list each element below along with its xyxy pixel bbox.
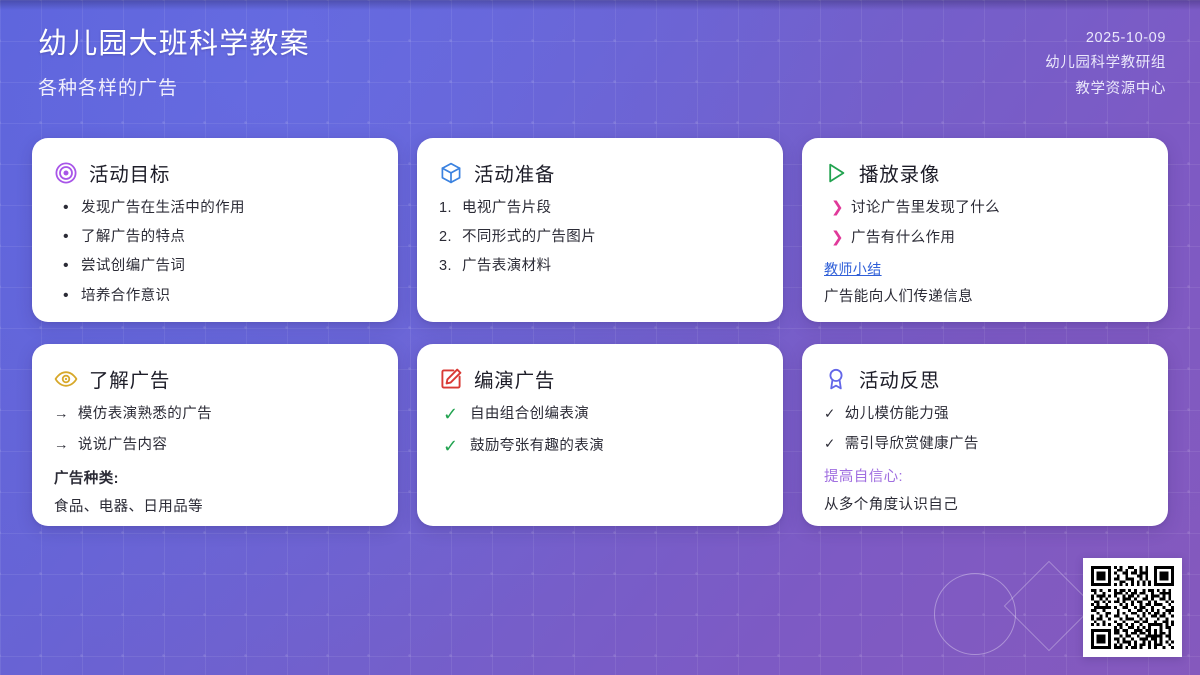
target-icon [54, 161, 78, 185]
card-header: 活动准备 [439, 158, 761, 187]
header-left: 幼儿园大班科学教案 各种各样的广告 [38, 26, 310, 100]
list-item: 培养合作意识 [54, 288, 376, 305]
outline-diamond-shape [1004, 561, 1095, 652]
list-item: 广告表演材料 [439, 258, 761, 275]
page-title: 幼儿园大班科学教案 [38, 26, 310, 62]
list-item: 电视广告片段 [439, 200, 761, 217]
card-title: 活动目标 [89, 158, 170, 187]
qr-code-pattern [1091, 566, 1174, 649]
reflection-list: ✓幼儿模仿能力强 ✓需引导欣赏健康广告 [824, 406, 1146, 465]
card-header: 播放录像 [824, 158, 1146, 187]
list-item: 不同形式的广告图片 [439, 229, 761, 246]
card-perform-ads[interactable]: 编演广告 ✓自由组合创编表演 ✓鼓励夸张有趣的表演 [417, 344, 783, 526]
header-organization: 幼儿园科学教研组 [1045, 51, 1166, 72]
card-body: →模仿表演熟悉的广告 →说说广告内容 广告种类: 食品、电器、日用品等 [54, 406, 376, 516]
list-item: ❯讨论广告里发现了什么 [824, 200, 1146, 217]
card-title: 播放录像 [859, 158, 940, 187]
list-item: 了解广告的特点 [54, 229, 376, 246]
award-icon [824, 367, 848, 391]
preparation-list: 电视广告片段 不同形式的广告图片 广告表演材料 [439, 200, 761, 288]
check-icon: ✓ [443, 436, 458, 458]
arrow-right-icon: → [54, 437, 69, 454]
chevron-right-icon: ❯ [831, 229, 844, 246]
list-item: →说说广告内容 [54, 437, 376, 454]
card-title: 了解广告 [89, 364, 170, 393]
list-item: ✓需引导欣赏健康广告 [824, 436, 1146, 453]
card-header: 了解广告 [54, 364, 376, 393]
list-item: 发现广告在生活中的作用 [54, 200, 376, 217]
check-mark-icon: ✓ [824, 406, 836, 423]
check-mark-icon: ✓ [824, 436, 836, 453]
objectives-list: 发现广告在生活中的作用 了解广告的特点 尝试创编广告词 培养合作意识 [54, 200, 376, 317]
list-item: ✓自由组合创编表演 [439, 406, 761, 423]
card-body: ✓幼儿模仿能力强 ✓需引导欣赏健康广告 提高自信心: 从多个角度认识自己 [824, 406, 1146, 514]
ad-types-text: 食品、电器、日用品等 [54, 495, 376, 516]
list-item: 尝试创编广告词 [54, 258, 376, 275]
card-header: 编演广告 [439, 364, 761, 393]
qr-code[interactable] [1083, 558, 1182, 657]
eye-icon [54, 367, 78, 391]
chevron-right-icon: ❯ [831, 199, 844, 216]
card-body: 发现广告在生活中的作用 了解广告的特点 尝试创编广告词 培养合作意识 [54, 200, 376, 317]
check-icon: ✓ [443, 404, 458, 426]
list-item: ✓鼓励夸张有趣的表演 [439, 438, 761, 455]
understand-list: →模仿表演熟悉的广告 →说说广告内容 [54, 406, 376, 467]
header-date: 2025-10-09 [1086, 30, 1166, 46]
card-title: 活动反思 [859, 364, 940, 393]
card-preparation[interactable]: 活动准备 电视广告片段 不同形式的广告图片 广告表演材料 [417, 138, 783, 322]
card-body: 电视广告片段 不同形式的广告图片 广告表演材料 [439, 200, 761, 288]
slide-header: 幼儿园大班科学教案 各种各样的广告 2025-10-09 幼儿园科学教研组 教学… [0, 0, 1200, 124]
card-body: ✓自由组合创编表演 ✓鼓励夸张有趣的表演 [439, 406, 761, 471]
header-resource-center: 教学资源中心 [1075, 77, 1166, 98]
card-body: ❯讨论广告里发现了什么 ❯广告有什么作用 教师小结 广告能向人们传递信息 [824, 200, 1146, 306]
card-play-video[interactable]: 播放录像 ❯讨论广告里发现了什么 ❯广告有什么作用 教师小结 广告能向人们传递信… [802, 138, 1168, 322]
outline-circle-shape [934, 573, 1016, 655]
box-icon [439, 161, 463, 185]
card-understand-ads[interactable]: 了解广告 →模仿表演熟悉的广告 →说说广告内容 广告种类: 食品、电器、日用品等 [32, 344, 398, 526]
ad-types-label: 广告种类: [54, 467, 376, 488]
list-item: →模仿表演熟悉的广告 [54, 406, 376, 423]
card-title: 活动准备 [474, 158, 555, 187]
perform-list: ✓自由组合创编表演 ✓鼓励夸张有趣的表演 [439, 406, 761, 471]
slide-canvas: 幼儿园大班科学教案 各种各样的广告 2025-10-09 幼儿园科学教研组 教学… [0, 0, 1200, 675]
list-item: ✓幼儿模仿能力强 [824, 406, 1146, 423]
card-reflection[interactable]: 活动反思 ✓幼儿模仿能力强 ✓需引导欣赏健康广告 提高自信心: 从多个角度认识自… [802, 344, 1168, 526]
discussion-list: ❯讨论广告里发现了什么 ❯广告有什么作用 [824, 200, 1146, 259]
card-header: 活动反思 [824, 364, 1146, 393]
card-header: 活动目标 [54, 158, 376, 187]
teacher-summary-text: 广告能向人们传递信息 [824, 285, 1146, 306]
list-item: ❯广告有什么作用 [824, 230, 1146, 247]
header-meta: 2025-10-09 幼儿园科学教研组 教学资源中心 [1045, 26, 1166, 98]
confidence-text: 从多个角度认识自己 [824, 493, 1146, 514]
arrow-right-icon: → [54, 406, 69, 423]
play-icon [824, 161, 848, 185]
card-objectives[interactable]: 活动目标 发现广告在生活中的作用 了解广告的特点 尝试创编广告词 培养合作意识 [32, 138, 398, 322]
card-title: 编演广告 [474, 364, 555, 393]
edit-square-icon [439, 367, 463, 391]
page-subtitle: 各种各样的广告 [38, 73, 310, 100]
teacher-summary-link[interactable]: 教师小结 [824, 259, 882, 279]
card-grid: 活动目标 发现广告在生活中的作用 了解广告的特点 尝试创编广告词 培养合作意识 [32, 138, 1168, 526]
confidence-label: 提高自信心: [824, 465, 1146, 486]
